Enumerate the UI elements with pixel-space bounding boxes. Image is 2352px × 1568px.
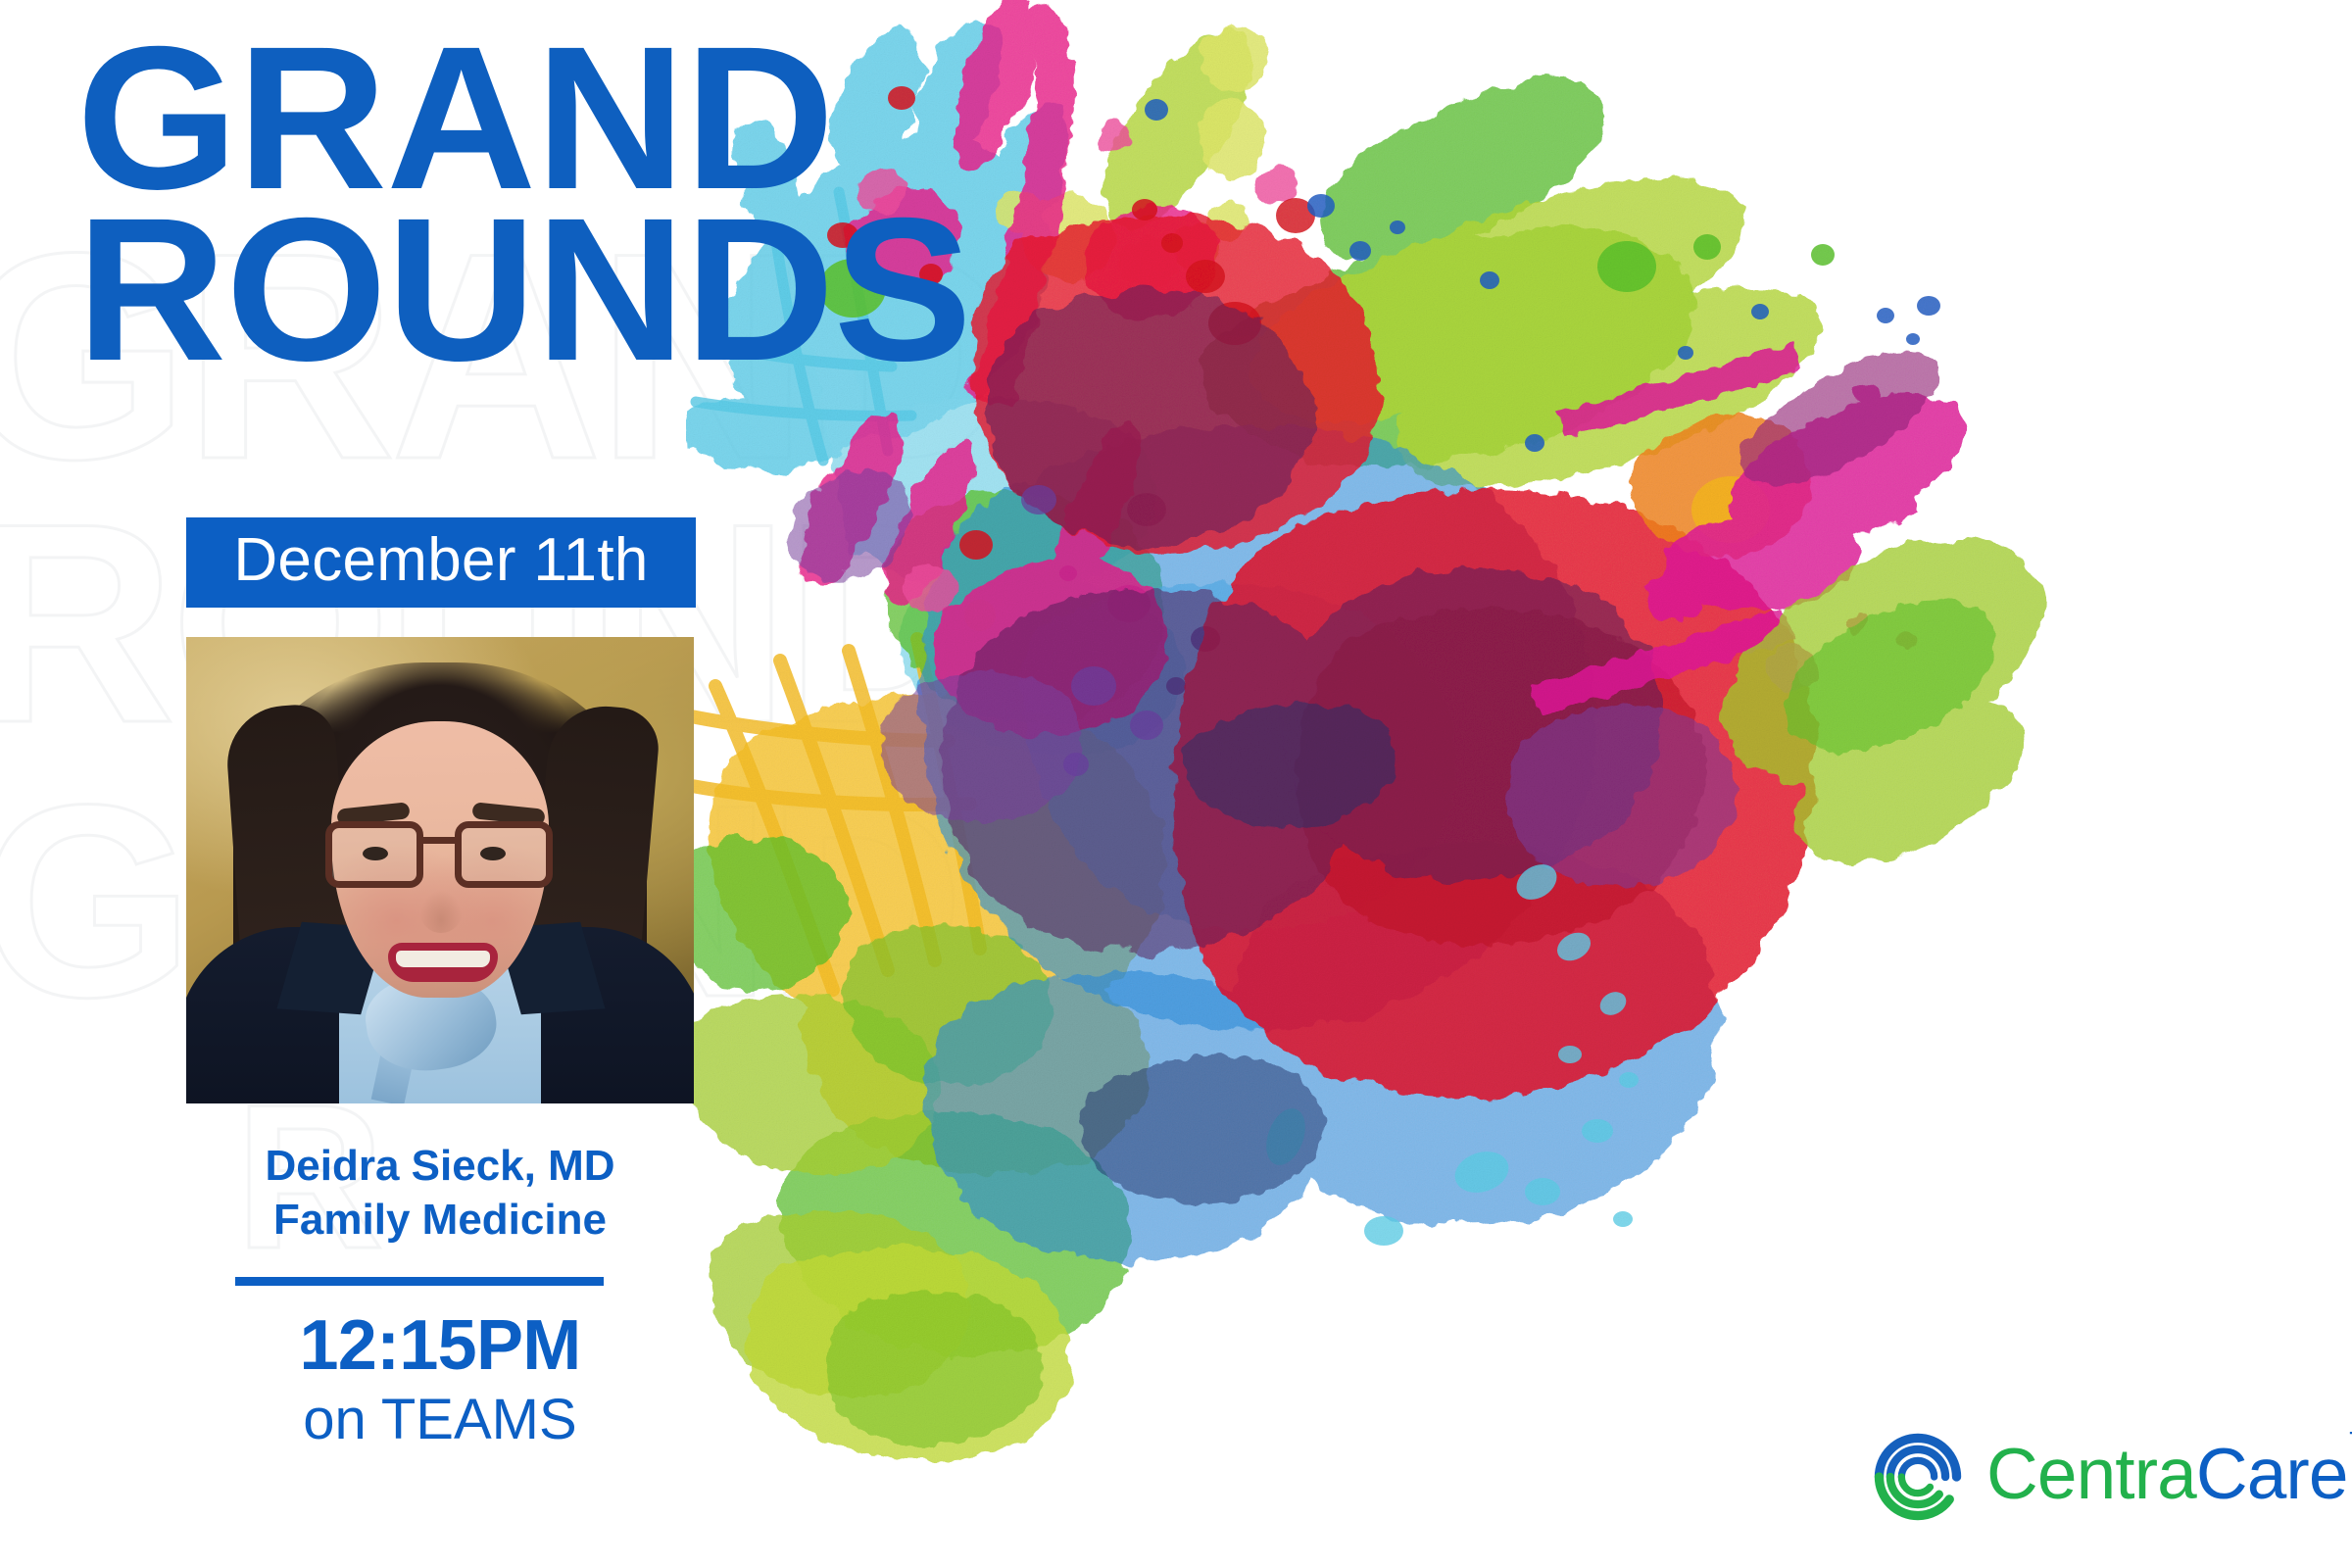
centracare-logo: CentraCareTM <box>1867 1423 2298 1531</box>
portrait-nose <box>419 890 463 933</box>
event-platform: on TEAMS <box>186 1389 694 1451</box>
portrait-teeth <box>396 951 490 967</box>
speaker-photo <box>186 637 694 1103</box>
portrait-eye-right <box>480 847 506 860</box>
brand-care: Care <box>2196 1435 2348 1514</box>
event-time: 12:15PM <box>186 1308 694 1385</box>
speaker-specialty: Family Medicine <box>186 1193 694 1247</box>
speaker-name: Deidra Sieck, MD <box>186 1139 694 1193</box>
event-time-block: 12:15PM on TEAMS <box>186 1308 694 1451</box>
centracare-spiral-c-icon <box>1867 1426 1969 1528</box>
centracare-wordmark: CentraCareTM <box>1986 1439 2352 1510</box>
page-title: GRAND ROUNDS <box>76 33 971 375</box>
portrait-mouth <box>388 943 498 982</box>
date-banner: December 11th <box>186 517 696 608</box>
speaker-info: Deidra Sieck, MD Family Medicine <box>186 1139 694 1247</box>
grand-rounds-flyer: GRAND ROUNDS GRAND R <box>0 0 2352 1568</box>
headline-line-2: ROUNDS <box>76 205 971 376</box>
eyeglasses-icon <box>323 821 557 894</box>
brand-centra: Centra <box>1986 1435 2196 1514</box>
portrait-eye-left <box>363 847 388 860</box>
date-label: December 11th <box>233 530 648 595</box>
glasses-bridge <box>421 837 459 844</box>
divider <box>235 1277 604 1286</box>
